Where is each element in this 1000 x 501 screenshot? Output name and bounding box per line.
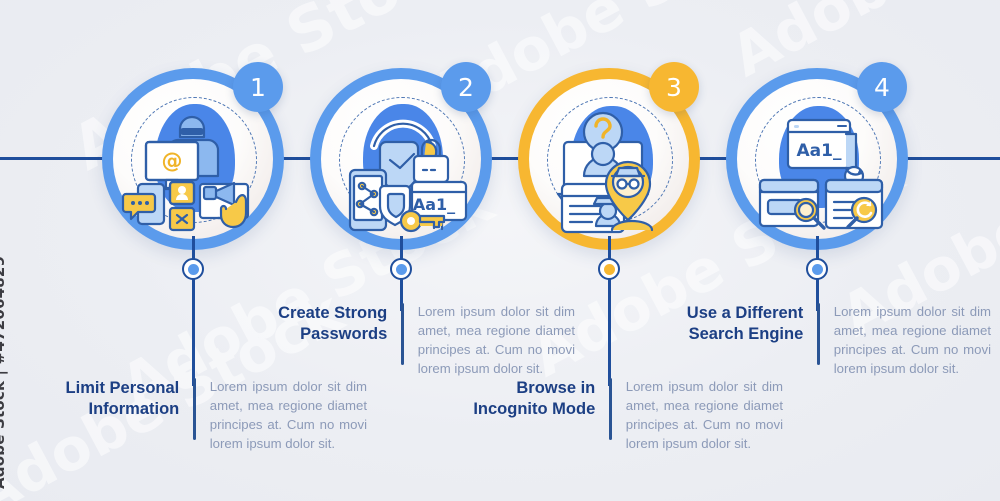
step-text-2: Create Strong Passwords Lorem ipsum dolo… — [230, 303, 575, 373]
step-dot-1 — [182, 258, 204, 280]
step-title-2: Create Strong Passwords — [230, 303, 401, 345]
step-title-4: Use a Different Search Engine — [646, 303, 817, 345]
step-badge-2: 2 — [441, 62, 491, 112]
step-number-4: 4 — [874, 75, 890, 100]
step-body-1: Lorem ipsum dolor sit dim amet, mea regi… — [196, 378, 367, 454]
svg-text:@: @ — [162, 149, 183, 173]
step-dot-2 — [390, 258, 412, 280]
step-badge-3: 3 — [649, 62, 699, 112]
step-text-4: Use a Different Search Engine Lorem ipsu… — [646, 303, 991, 373]
step-body-2: Lorem ipsum dolor sit dim amet, mea regi… — [404, 303, 575, 379]
step-text-3: Browse in Incognito Mode Lorem ipsum dol… — [438, 378, 783, 448]
infographic-canvas: Adobe Stock Adobe Stock Adobe Stock Adob… — [0, 0, 1000, 501]
step-dot-4 — [806, 258, 828, 280]
stock-credit: Adobe Stock | #472064829 — [0, 256, 8, 489]
step-text-1: Limit Personal Information Lorem ipsum d… — [22, 378, 367, 448]
step-body-3: Lorem ipsum dolor sit dim amet, mea regi… — [612, 378, 783, 454]
step-number-1: 1 — [250, 75, 266, 100]
step-body-4: Lorem ipsum dolor sit dim amet, mea regi… — [820, 303, 991, 379]
step-title-3: Browse in Incognito Mode — [438, 378, 609, 420]
svg-text:Aa1_: Aa1_ — [797, 141, 842, 161]
step-number-3: 3 — [666, 75, 682, 100]
step-number-2: 2 — [458, 75, 474, 100]
svg-text:Aa1_: Aa1_ — [413, 195, 455, 214]
step-title-1: Limit Personal Information — [22, 378, 193, 420]
step-badge-4: 4 — [857, 62, 907, 112]
step-badge-1: 1 — [233, 62, 283, 112]
step-dot-3 — [598, 258, 620, 280]
